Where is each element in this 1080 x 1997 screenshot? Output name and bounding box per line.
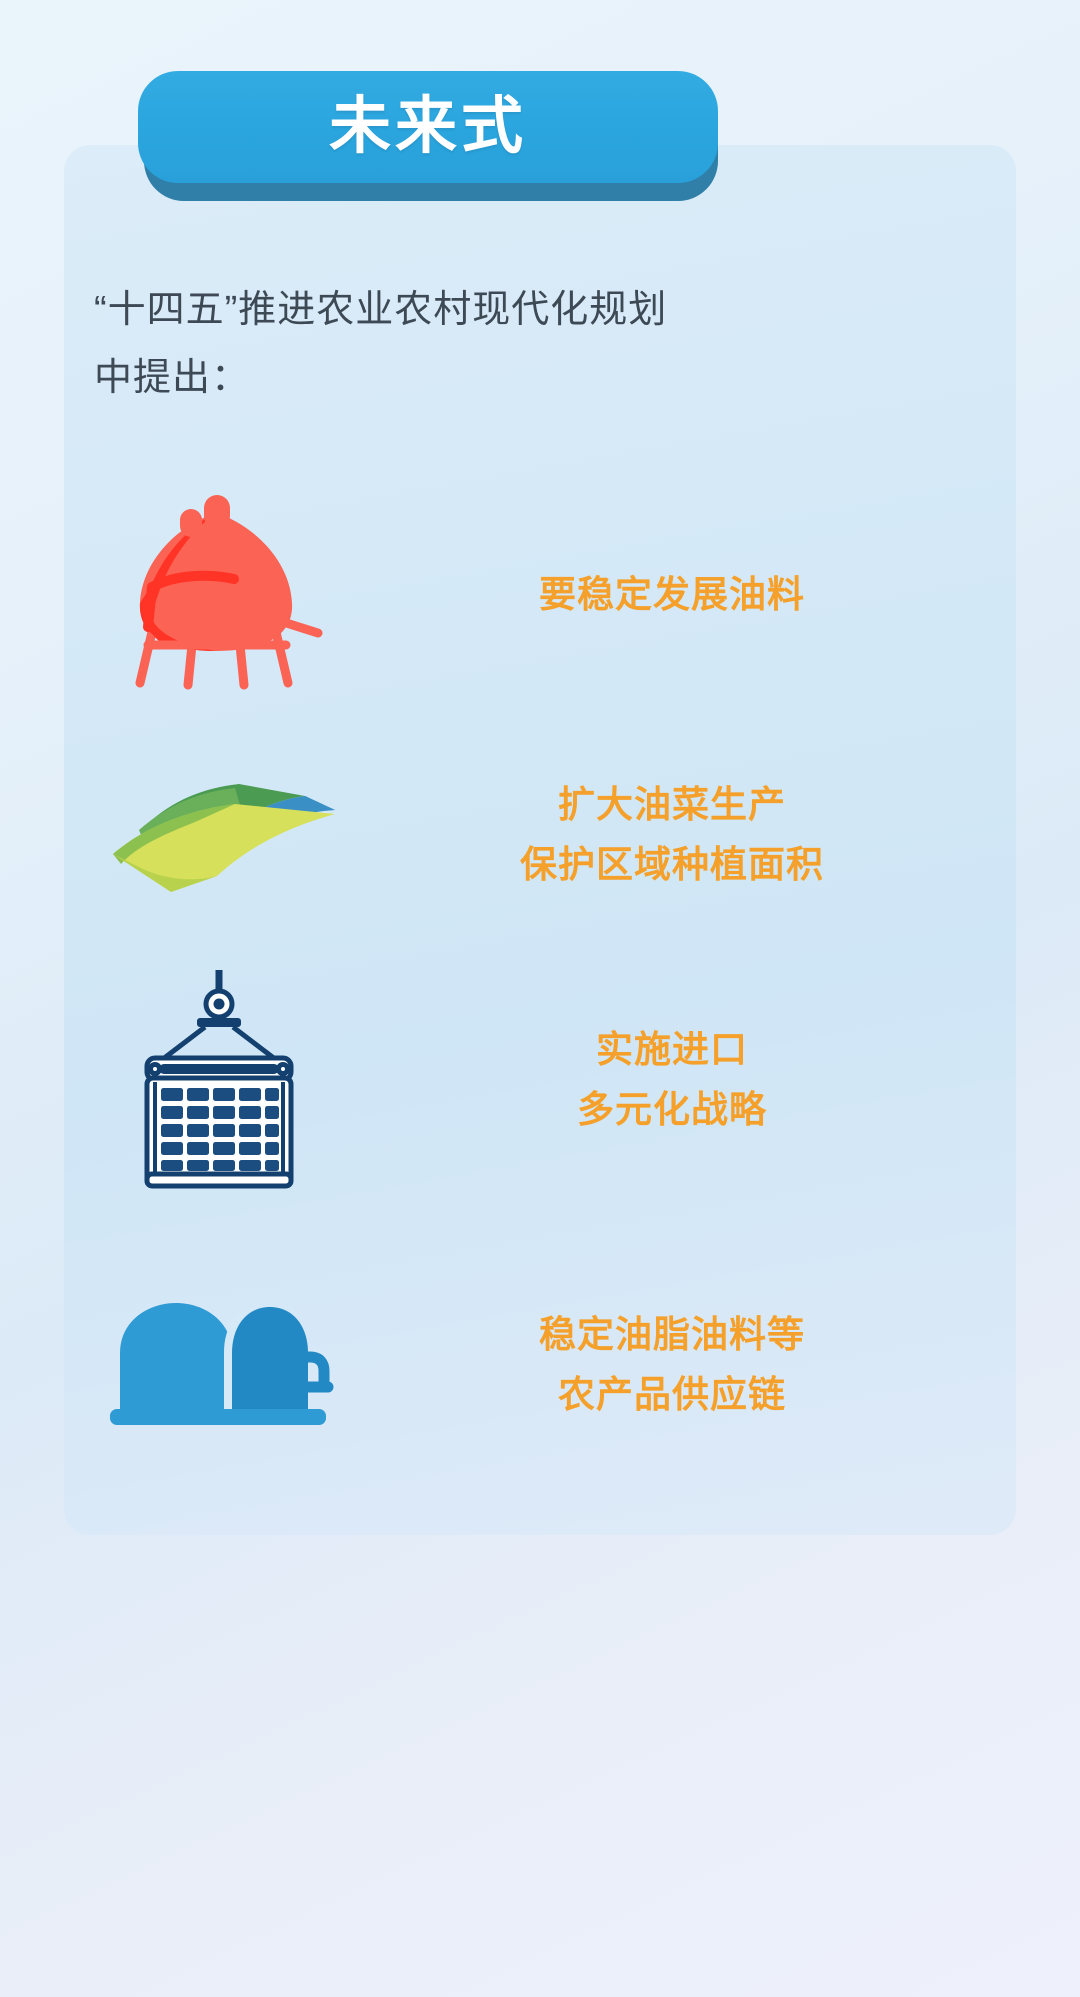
item-label-line: 多元化战略 (374, 1080, 970, 1140)
oil-plant-glyph (104, 1295, 334, 1435)
farmland-field-icon (64, 770, 374, 900)
list-item: 要稳定发展油料 (64, 490, 1016, 700)
banner-title: 未来式 (329, 96, 527, 158)
oil-press-tank-glyph (104, 495, 334, 695)
item-label: 扩大油菜生产 保护区域种植面积 (374, 775, 1016, 895)
farmland-field-glyph (99, 770, 339, 900)
intro-line-2: 中提出： (94, 344, 794, 412)
list-item: 扩大油菜生产 保护区域种植面积 (64, 735, 1016, 935)
list-item: 稳定油脂油料等 农产品供应链 (64, 1255, 1016, 1475)
intro-paragraph: “十四五”推进农业农村现代化规划 中提出： (94, 276, 794, 412)
item-label-line: 保护区域种植面积 (374, 835, 970, 895)
list-item: 实施进口 多元化战略 (64, 960, 1016, 1200)
banner-face: 未来式 (138, 71, 718, 183)
poster-root: 未来式 “十四五”推进农业农村现代化规划 中提出： (0, 0, 1080, 1997)
header-banner: 未来式 (138, 71, 718, 201)
intro-line-1: “十四五”推进农业农村现代化规划 (94, 276, 794, 344)
oil-press-tank-icon (64, 495, 374, 695)
item-label-line: 实施进口 (374, 1020, 970, 1080)
item-label-line: 稳定油脂油料等 (374, 1305, 970, 1365)
shipping-container-crane-icon (64, 970, 374, 1190)
item-label-line: 农产品供应链 (374, 1365, 970, 1425)
item-label-line: 扩大油菜生产 (374, 775, 970, 835)
oil-processing-plant-icon (64, 1295, 374, 1435)
shipping-container-glyph (119, 970, 319, 1190)
item-label: 稳定油脂油料等 农产品供应链 (374, 1305, 1016, 1425)
item-label: 要稳定发展油料 (374, 565, 1016, 625)
item-label-line: 要稳定发展油料 (374, 565, 970, 625)
item-label: 实施进口 多元化战略 (374, 1020, 1016, 1140)
